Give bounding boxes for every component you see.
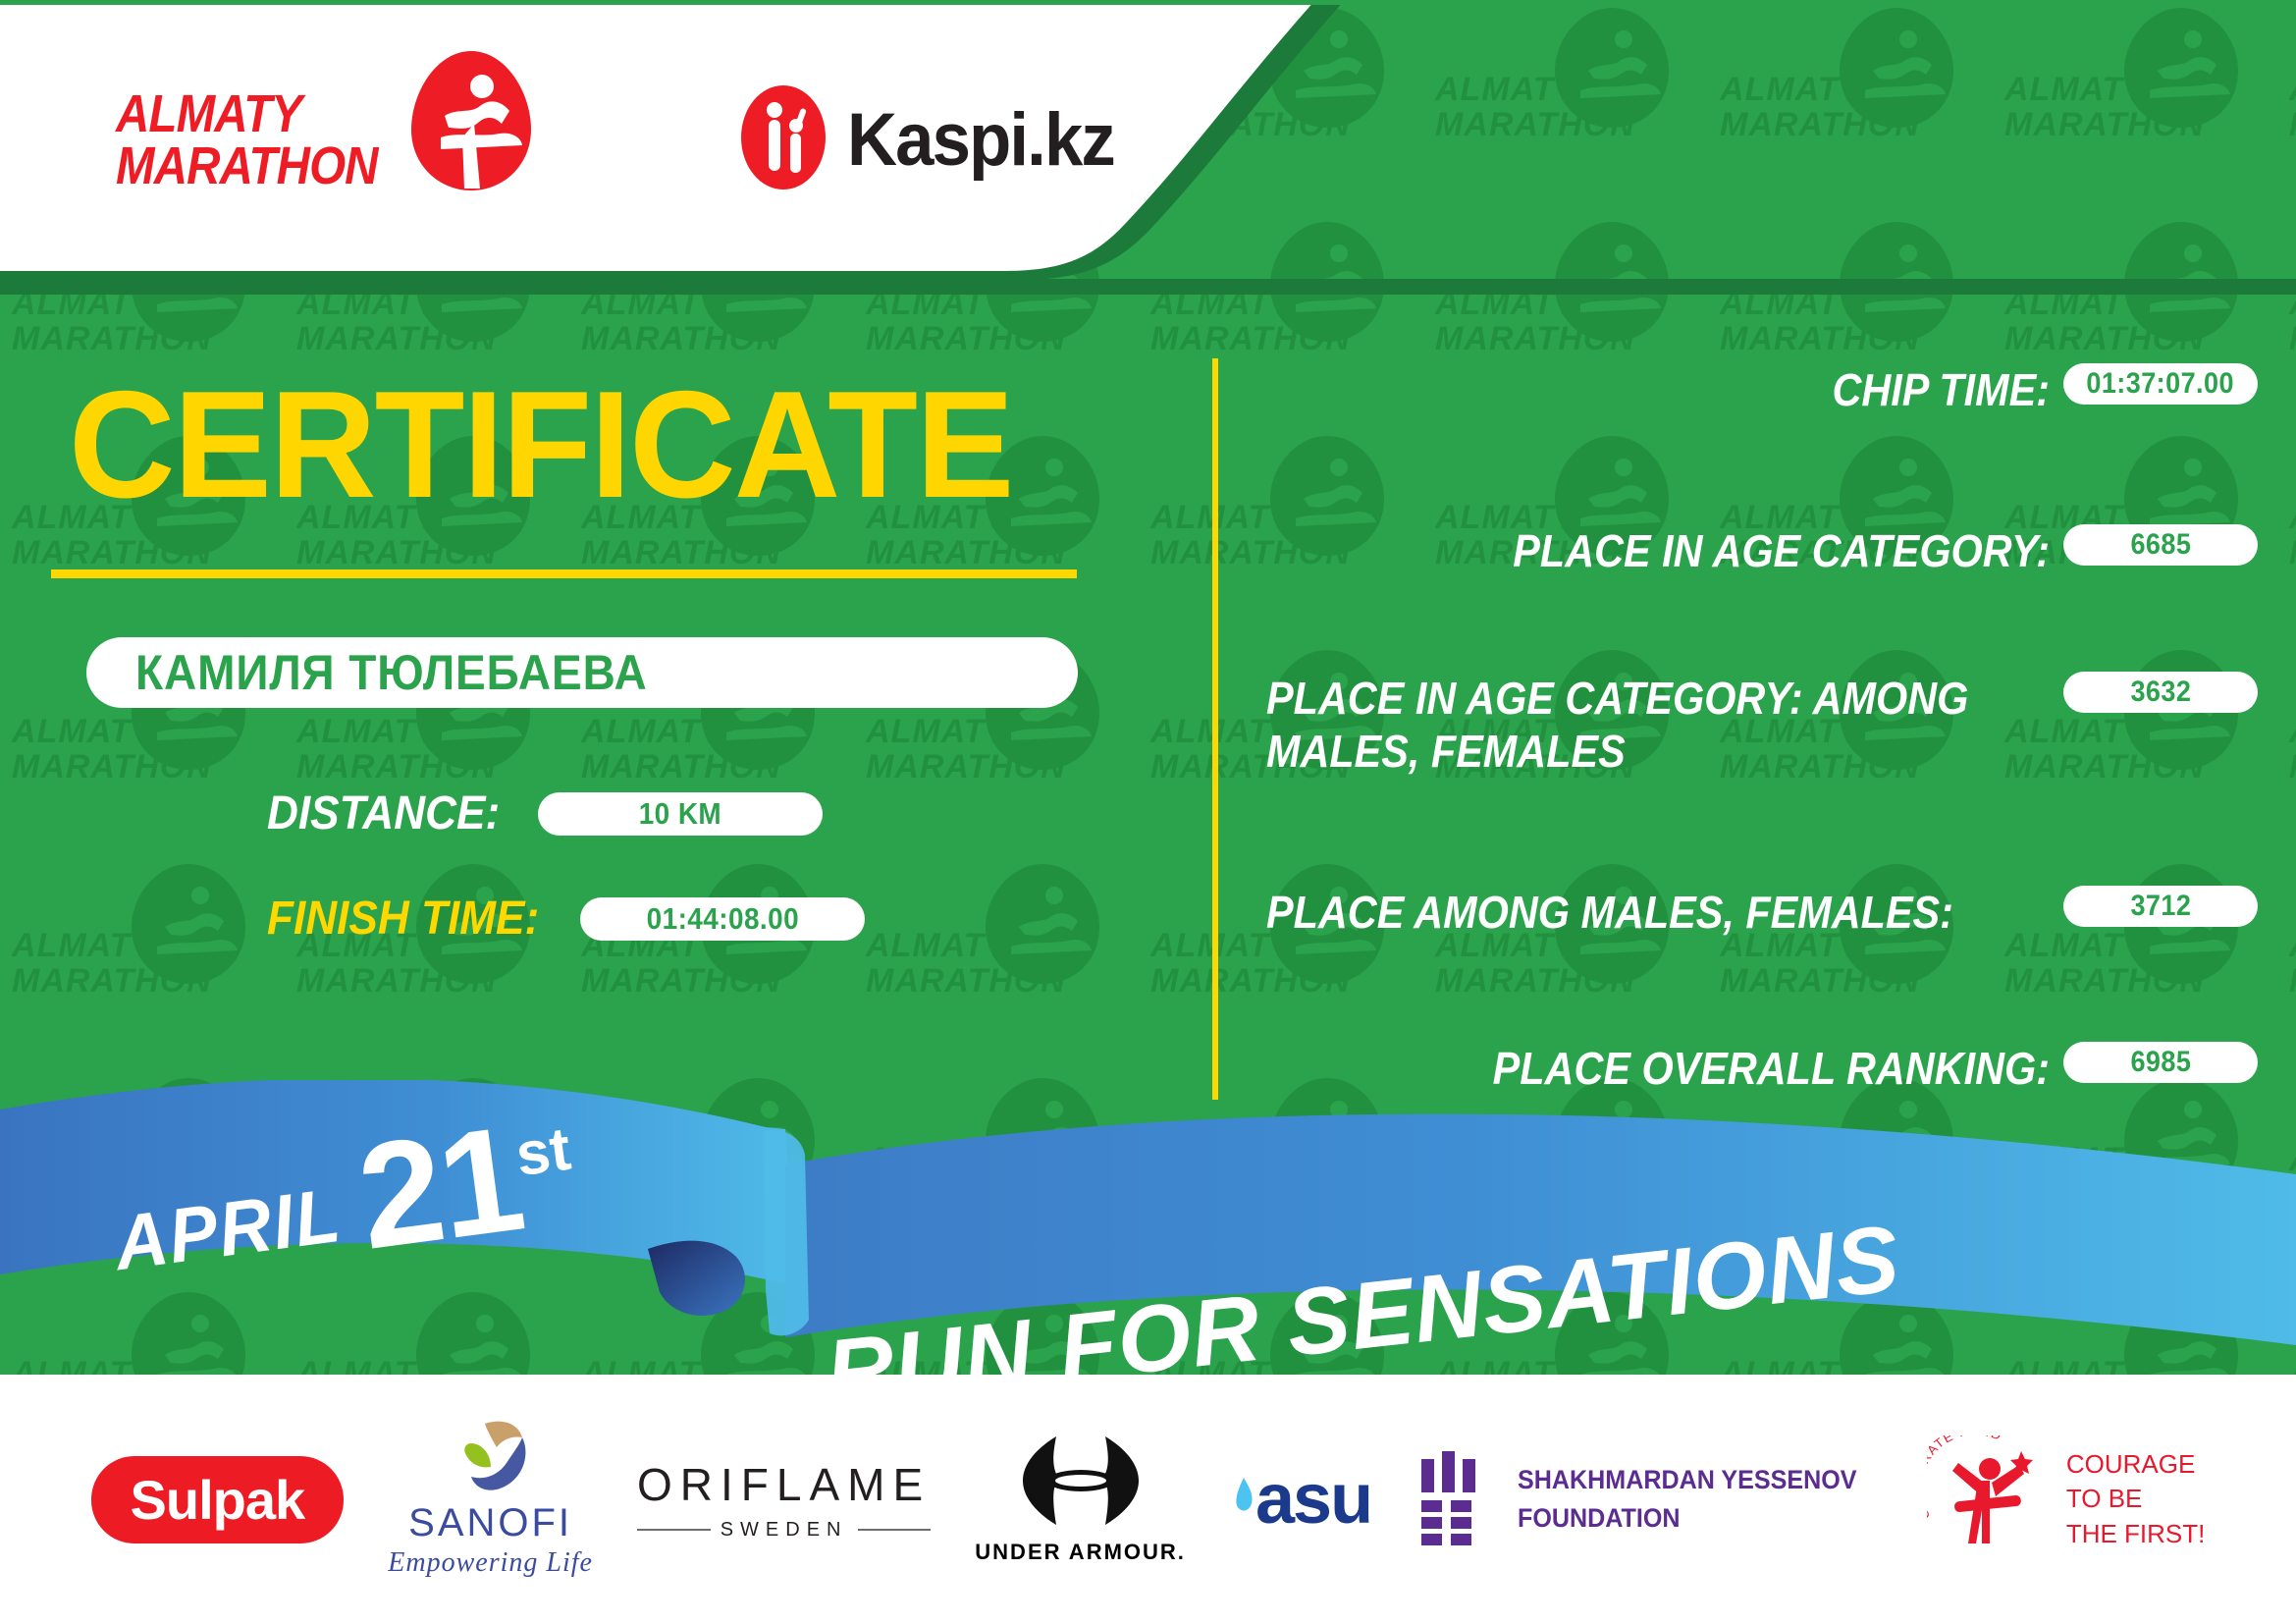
asu-wordmark: asu (1255, 1459, 1371, 1540)
chip-time-value: 01:37:07.00 (2087, 367, 2235, 401)
under-armour-mark-icon (1019, 1435, 1143, 1532)
distance-value-pill: 10 KM (538, 792, 823, 836)
place-age-category-gender-label: PLACE IN AGE CATEGORY: AMONG MALES, FEMA… (1266, 672, 1971, 779)
sponsor-asu: asu (1230, 1459, 1371, 1540)
oriflame-subline: SWEDEN (637, 1519, 931, 1542)
courage-runner-icon: CORPORATE FUND (1927, 1435, 2056, 1564)
distance-label: DISTANCE: (267, 786, 500, 840)
oriflame-wordmark: ORIFLAME (637, 1458, 931, 1511)
title-underline-rule (51, 569, 1077, 578)
place-overall-ranking-value-pill: 6985 (2063, 1042, 2258, 1083)
event-day-ordinal: st (511, 1114, 574, 1191)
sponsor-courage-to-be-the-first: CORPORATE FUND COURAGE TO BE THE FIRST! (1927, 1435, 2206, 1564)
almaty-runner-drop-icon (407, 47, 535, 199)
athlete-name-value: КАМИЛЯ ТЮЛЕБАЕВА (135, 644, 648, 701)
event-day: 21 (352, 1115, 528, 1262)
left-column: CERTIFICATE КАМИЛЯ ТЮЛЕБАЕВА DISTANCE: 1… (0, 295, 1207, 946)
place-age-category-gender-value: 3632 (2130, 676, 2191, 709)
courage-line3: THE FIRST! (2066, 1517, 2206, 1551)
almaty-marathon-logo: ALMATY MARATHON (116, 81, 535, 199)
header-logos: ALMATY MARATHON (0, 0, 1178, 280)
sulpak-wordmark: Sulpak (131, 1468, 305, 1532)
kaspi-logo: Kaspi.kz (741, 82, 1134, 197)
place-among-gender-value: 3712 (2130, 890, 2191, 923)
finish-time-value-pill: 01:44:08.00 (580, 897, 865, 941)
almaty-logo-line1: ALMATY (116, 88, 301, 140)
almaty-logo-line2: MARATHON (116, 140, 378, 192)
sponsor-under-armour: UNDER ARMOUR. (975, 1435, 1186, 1565)
sponsor-sanofi: SANOFI Empowering Life (388, 1420, 593, 1579)
place-overall-ranking-value: 6985 (2130, 1046, 2191, 1079)
place-among-gender-value-pill: 3712 (2063, 886, 2258, 927)
chip-time-row: CHIP TIME: 01:37:07.00 (1266, 363, 2258, 416)
asu-droplet-icon (1230, 1476, 1255, 1524)
courage-line2: TO BE (2066, 1482, 2206, 1516)
oriflame-rule-right (858, 1529, 932, 1531)
courage-wordmark: COURAGE TO BE THE FIRST! (2066, 1447, 2206, 1550)
chip-time-label: CHIP TIME: (1345, 363, 2050, 416)
sanofi-tagline: Empowering Life (388, 1547, 593, 1579)
sponsor-bar: Sulpak SANOFI Empowering Life ORIFLAME S… (0, 1375, 2296, 1624)
sanofi-wordmark: SANOFI (408, 1501, 572, 1545)
certificate-page: ALMATY MARATHON ALMATY MARATHON (0, 0, 2296, 1624)
distance-row: DISTANCE: 10 KM (267, 786, 1207, 840)
sanofi-mark-icon (446, 1420, 536, 1497)
chip-time-value-pill: 01:37:07.00 (2063, 363, 2258, 405)
place-age-category-label: PLACE IN AGE CATEGORY: (1345, 524, 2050, 577)
place-age-category-value-pill: 6685 (2063, 524, 2258, 566)
oriflame-sweden-text: SWEDEN (711, 1519, 858, 1542)
athlete-name-field: КАМИЛЯ ТЮЛЕБАЕВА (86, 637, 1078, 708)
sponsor-oriflame: ORIFLAME SWEDEN (637, 1458, 931, 1542)
place-among-gender-label: PLACE AMONG MALES, FEMALES: (1266, 886, 1971, 939)
finish-time-label: FINISH TIME: (267, 892, 539, 946)
oriflame-rule-left (637, 1529, 711, 1531)
kaspi-mark-icon (741, 82, 826, 197)
place-age-category-gender-row: PLACE IN AGE CATEGORY: AMONG MALES, FEMA… (1266, 672, 2258, 779)
page-title: CERTIFICATE (69, 368, 1173, 520)
sponsor-yessenov-foundation: SHAKHMARDAN YESSENOV FOUNDATION (1415, 1449, 1883, 1550)
under-armour-wordmark: UNDER ARMOUR. (975, 1540, 1186, 1565)
place-age-category-value: 6685 (2130, 528, 2191, 562)
place-age-category-row: PLACE IN AGE CATEGORY: 6685 (1266, 524, 2258, 577)
finish-time-row: FINISH TIME: 01:44:08.00 (267, 892, 1207, 946)
yessenov-line2: FOUNDATION (1518, 1499, 1857, 1538)
courage-line1: COURAGE (2066, 1447, 2206, 1482)
kaspi-wordmark: Kaspi.kz (847, 97, 1114, 183)
place-among-gender-row: PLACE AMONG MALES, FEMALES: 3712 (1266, 886, 2258, 939)
right-column-stats: CHIP TIME: 01:37:07.00 PLACE IN AGE CATE… (1266, 363, 2258, 1096)
yessenov-mark-icon (1415, 1449, 1498, 1550)
column-divider (1212, 358, 1218, 1100)
yessenov-wordmark: SHAKHMARDAN YESSENOV FOUNDATION (1518, 1461, 1857, 1538)
yessenov-line1: SHAKHMARDAN YESSENOV (1518, 1461, 1857, 1499)
distance-value: 10 KM (639, 796, 721, 832)
finish-time-value: 01:44:08.00 (647, 901, 799, 937)
sponsor-sulpak: Sulpak (91, 1456, 345, 1543)
place-age-category-gender-value-pill: 3632 (2063, 672, 2258, 713)
